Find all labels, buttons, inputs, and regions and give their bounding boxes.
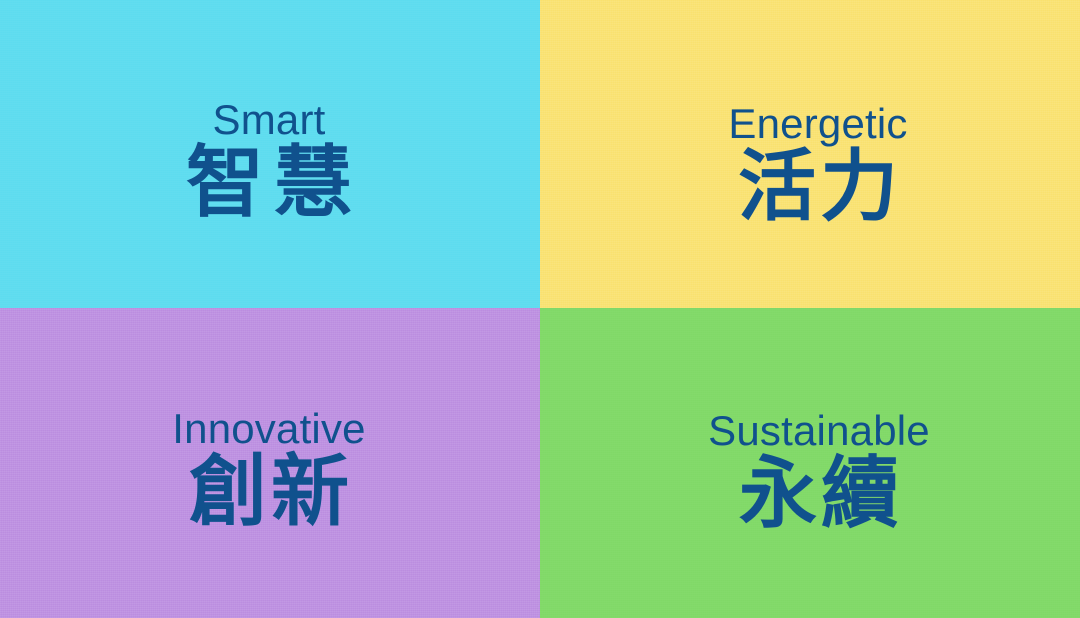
english-label-innovative: Innovative: [172, 408, 365, 450]
label-stack-smart: Smart 智慧: [176, 99, 362, 221]
brand-values-poster: Smart 智慧 Energetic 活力 Innovative 創新 Sust…: [0, 0, 1080, 618]
quadrant-innovative[interactable]: Innovative 創新: [0, 308, 540, 618]
label-stack-innovative: Innovative 創新: [172, 408, 365, 530]
quadrant-sustainable[interactable]: Sustainable 永續: [540, 308, 1080, 618]
quadrant-smart[interactable]: Smart 智慧: [0, 0, 540, 308]
chinese-label-smart: 智慧: [176, 143, 362, 221]
chinese-label-innovative: 創新: [185, 452, 353, 530]
label-stack-sustainable: Sustainable 永續: [708, 410, 930, 532]
quadrant-energetic[interactable]: Energetic 活力: [540, 0, 1080, 308]
english-label-smart: Smart: [212, 99, 325, 141]
chinese-label-energetic: 活力: [734, 147, 902, 225]
english-label-sustainable: Sustainable: [708, 410, 930, 452]
chinese-label-sustainable: 永續: [735, 454, 903, 532]
english-label-energetic: Energetic: [728, 103, 907, 145]
label-stack-energetic: Energetic 活力: [728, 103, 907, 225]
